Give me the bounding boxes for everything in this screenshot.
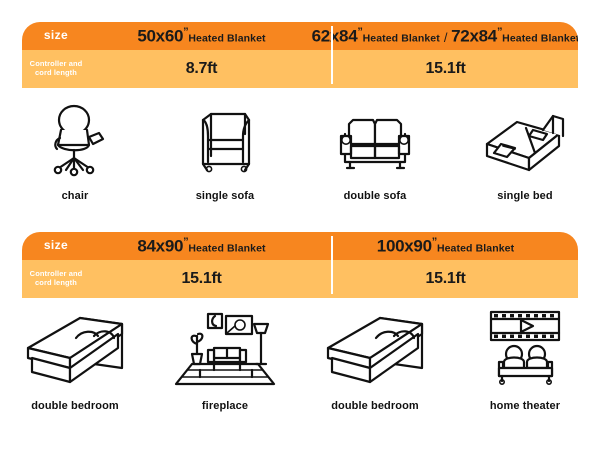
column-divider	[331, 236, 333, 294]
column-divider	[331, 26, 333, 84]
icon-item-double-bedroom-2: double bedroom	[300, 310, 450, 412]
single-sofa-icon	[183, 100, 267, 178]
icon-row-1: chair single sofa	[0, 100, 600, 202]
size-row-label: size	[22, 232, 90, 260]
size-row: size 50x60”Heated Blanket 62x84”Heated B…	[22, 22, 578, 50]
size-cell-left: 50x60”Heated Blanket	[90, 22, 313, 50]
icon-item-single-bed: single bed	[450, 100, 600, 202]
icon-label: fireplace	[202, 400, 248, 412]
icon-label: double bedroom	[31, 400, 119, 412]
cord-length-row: Controller and cord length 8.7ft 15.1ft	[22, 50, 578, 88]
double-bedroom-icon	[310, 310, 440, 388]
size-text: 50x60”Heated Blanket	[137, 27, 265, 45]
cord-length-value: 15.1ft	[426, 271, 466, 287]
size-text: 84x90”Heated Blanket	[137, 237, 265, 255]
cord-length-value: 15.1ft	[182, 271, 222, 287]
cord-length-row-label: Controller and cord length	[22, 50, 90, 88]
home-theater-icon	[473, 310, 577, 388]
icon-label: single bed	[497, 190, 552, 202]
size-text: 100x90”Heated Blanket	[377, 237, 514, 255]
icon-item-single-sofa: single sofa	[150, 100, 300, 202]
icon-label: home theater	[490, 400, 560, 412]
double-bedroom-icon	[10, 310, 140, 388]
size-row-label: size	[22, 22, 90, 50]
cord-length-row-label: Controller and cord length	[22, 260, 90, 298]
icon-item-chair: chair	[0, 100, 150, 202]
icon-item-fireplace: fireplace	[150, 310, 300, 412]
double-sofa-icon	[323, 100, 427, 178]
icon-item-double-sofa: double sofa	[300, 100, 450, 202]
size-cell-right: 100x90”Heated Blanket	[313, 232, 578, 260]
cord-length-cell-right: 15.1ft	[313, 260, 578, 298]
cord-length-value: 8.7ft	[186, 61, 217, 77]
size-cell-left: 84x90”Heated Blanket	[90, 232, 313, 260]
size-chart-sheet: size 50x60”Heated Blanket 62x84”Heated B…	[0, 0, 600, 450]
icon-label: single sofa	[196, 190, 255, 202]
fireplace-icon	[170, 310, 280, 388]
icon-label: double sofa	[344, 190, 407, 202]
icon-item-home-theater: home theater	[450, 310, 600, 412]
cord-length-row: Controller and cord length 15.1ft 15.1ft	[22, 260, 578, 298]
spec-table-2: size 84x90”Heated Blanket 100x90”Heated …	[22, 232, 578, 298]
cord-length-cell-right: 15.1ft	[313, 50, 578, 88]
size-cell-right: 62x84”Heated Blanket/72x84”Heated Blanke…	[313, 22, 578, 50]
size-text: 62x84”Heated Blanket/72x84”Heated Blanke…	[312, 27, 578, 45]
icon-label: chair	[62, 190, 89, 202]
size-row: size 84x90”Heated Blanket 100x90”Heated …	[22, 232, 578, 260]
icon-label: double bedroom	[331, 400, 419, 412]
icon-row-2: double bedroom	[0, 310, 600, 412]
cord-length-cell-left: 15.1ft	[90, 260, 313, 298]
spec-table-1: size 50x60”Heated Blanket 62x84”Heated B…	[22, 22, 578, 88]
icon-item-double-bedroom-1: double bedroom	[0, 310, 150, 412]
chair-icon	[33, 100, 117, 178]
cord-length-cell-left: 8.7ft	[90, 50, 313, 88]
single-bed-icon	[473, 100, 577, 178]
cord-length-value: 15.1ft	[426, 61, 466, 77]
